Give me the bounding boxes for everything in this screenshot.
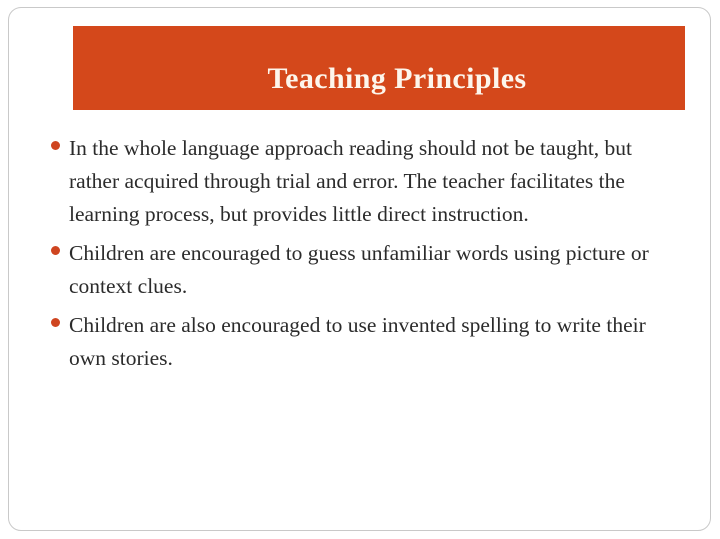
list-item-text: Children are also encouraged to use inve… [69,309,649,375]
round-bullet-icon [51,141,60,150]
round-bullet-icon [51,246,60,255]
list-item-text: In the whole language approach reading s… [69,132,661,231]
round-bullet-icon [51,318,60,327]
presentation-slide: Teaching Principles In the whole languag… [8,7,711,531]
slide-title-banner: Teaching Principles [73,26,685,110]
list-item: Children are encouraged to guess unfamil… [43,237,683,303]
slide-body: In the whole language approach reading s… [43,132,683,381]
list-item-text: Children are encouraged to guess unfamil… [69,237,683,303]
page-title: Teaching Principles [231,42,526,94]
list-item: Children are also encouraged to use inve… [43,309,683,375]
list-item: In the whole language approach reading s… [43,132,683,231]
bullet-list: In the whole language approach reading s… [43,132,683,375]
